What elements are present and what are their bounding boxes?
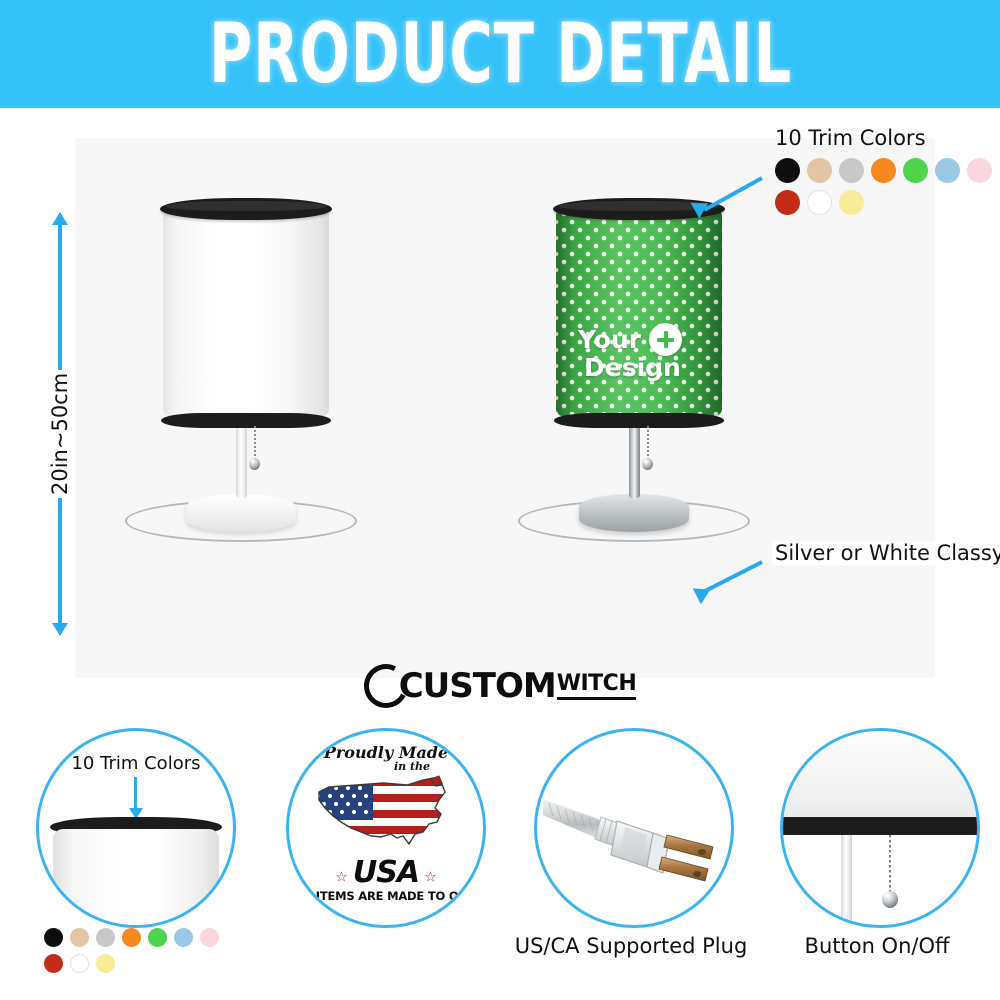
feature-pull-chain-ball[interactable] <box>882 891 898 908</box>
pull-chain-ball[interactable] <box>249 458 260 470</box>
usa-map-flag-icon <box>311 774 461 858</box>
page-title: PRODUCT DETAIL <box>208 6 791 102</box>
height-dimension-label: 20in~50cm <box>48 370 72 498</box>
pull-chain-ball[interactable] <box>642 458 653 470</box>
your-design-text: Your Design <box>556 326 722 382</box>
feature-made-in-usa: Proudly Made in the <box>258 716 508 1000</box>
shade-bottom-trim <box>554 413 724 428</box>
base-finish-label: Silver or White Classy <box>772 541 1000 565</box>
trim-swatch-light-blue[interactable] <box>174 928 193 947</box>
trim-swatch-orange[interactable] <box>122 928 141 947</box>
brand-secondary-wrap: WITCH <box>557 673 637 700</box>
header-banner: PRODUCT DETAIL <box>0 0 1000 108</box>
trim-swatch-green[interactable] <box>148 928 167 947</box>
trim-swatch-yellow[interactable] <box>839 190 864 215</box>
trim-swatch-pink[interactable] <box>967 158 992 183</box>
feature-shade-trim <box>780 817 980 835</box>
trim-swatch-tan[interactable] <box>70 928 89 947</box>
plus-icon <box>649 323 682 356</box>
feature-panels: 10 Trim Colors Proudly Made in the <box>0 716 1000 1000</box>
feature-circle-frame <box>534 728 734 928</box>
trim-swatch-tan[interactable] <box>807 158 832 183</box>
shade-surface <box>163 206 329 418</box>
lamp-shade-green: Your Design <box>556 206 722 418</box>
shade-top-trim <box>160 198 332 220</box>
feature-switch-caption: Button On/Off <box>752 934 1000 958</box>
trim-swatch-gray[interactable] <box>839 158 864 183</box>
trim-swatch-black[interactable] <box>775 158 800 183</box>
trim-swatch-pink[interactable] <box>200 928 219 947</box>
lamp-shade-white <box>163 206 329 418</box>
feature-lamp-pole <box>841 835 852 928</box>
star-right-icon: ☆ <box>424 870 437 886</box>
feature-trim-colors-arrow <box>134 777 137 809</box>
pull-chain[interactable] <box>647 426 649 460</box>
star-left-icon: ☆ <box>335 870 348 886</box>
trim-colors-heading: 10 Trim Colors <box>775 126 1000 150</box>
feature-circle-frame: 10 Trim Colors <box>36 728 236 928</box>
feature-trim-colors-label: 10 Trim Colors <box>39 753 233 774</box>
feature-pull-switch: Button On/Off <box>752 716 1000 1000</box>
lamp-base-silver <box>579 494 689 532</box>
trim-swatch-white[interactable] <box>807 190 832 215</box>
trim-swatch-gray[interactable] <box>96 928 115 947</box>
brand-underline <box>557 697 637 700</box>
shade-gloss-overlay <box>556 206 722 418</box>
product-stage: 7in~18cm 20in~50cm Your Design <box>0 108 1000 720</box>
feature-plug-caption: US/CA Supported Plug <box>506 934 756 958</box>
shade-bottom-trim <box>161 413 331 428</box>
trim-swatch-light-blue[interactable] <box>935 158 960 183</box>
trim-swatch-yellow[interactable] <box>96 954 115 973</box>
trim-swatch-orange[interactable] <box>871 158 896 183</box>
trim-swatch-green[interactable] <box>903 158 928 183</box>
brand-logo: CUSTOM WITCH <box>0 664 1000 708</box>
trim-swatch-red[interactable] <box>44 954 63 973</box>
usa-inthe-text: in the <box>341 761 483 773</box>
brand-primary-text: CUSTOM <box>399 669 556 703</box>
usa-proudly-text: Proudly Made <box>289 745 483 761</box>
trim-swatch-red[interactable] <box>775 190 800 215</box>
feature-pull-chain[interactable] <box>889 835 891 893</box>
feature-shade-body <box>780 731 980 823</box>
trim-swatch-black[interactable] <box>44 928 63 947</box>
usa-word: USA <box>353 855 419 890</box>
feature-circle-frame <box>780 728 980 928</box>
brand-secondary-text: WITCH <box>557 673 637 695</box>
usa-word-row: ☆ USA ☆ <box>289 858 483 888</box>
feature-shade-body <box>53 829 219 928</box>
trim-colors-swatch-row <box>775 158 1000 222</box>
usa-badge: Proudly Made in the <box>289 745 483 903</box>
feature-trim-colors: 10 Trim Colors <box>8 716 258 1000</box>
feature-power-plug: US/CA Supported Plug <box>506 716 756 1000</box>
usa-subtext: ALL ITEMS ARE MADE TO ORDER! <box>289 889 483 903</box>
pull-chain[interactable] <box>254 426 256 460</box>
feature-swatch-row <box>44 928 244 980</box>
plug-icon <box>543 777 725 887</box>
design-line-2: Design <box>578 354 722 382</box>
lamp-base-white <box>186 494 296 532</box>
feature-circle-frame: Proudly Made in the <box>286 728 486 928</box>
trim-swatch-white[interactable] <box>70 954 89 973</box>
